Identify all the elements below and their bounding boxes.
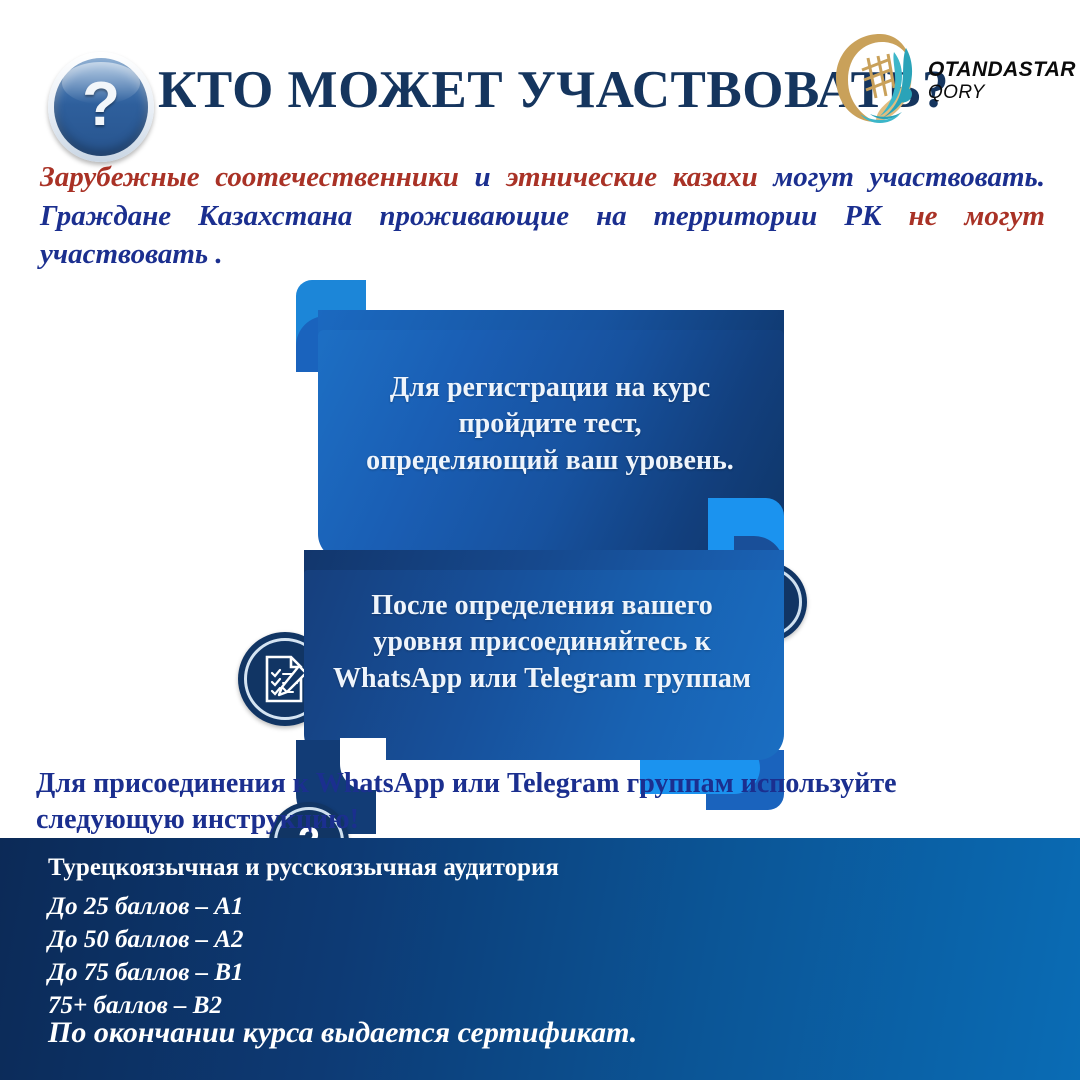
intro-segment-5: не могут [909, 200, 1045, 232]
level-row: До 50 баллов – А2 [48, 923, 244, 956]
step-2-line-3: WhatsApp или Telegram группам [312, 661, 772, 697]
intro-segment-2: и [459, 161, 507, 193]
intro-segment-3: этнические казахи [506, 161, 757, 193]
brand-logo: OTANDASTAR QORY [832, 28, 1072, 140]
score-levels-list: До 25 баллов – А1 До 50 баллов – А2 До 7… [48, 890, 244, 1022]
footer-title: Турецкоязычная и русскоязычная аудитория [48, 854, 559, 882]
step-1-line-2: пройдите тест, [330, 406, 770, 442]
intro-segment-1: Зарубежные соотечественники [40, 161, 459, 193]
instruction-text: Для присоединения к WhatsApp или Telegra… [36, 766, 1046, 838]
logo-name: OTANDASTAR [928, 58, 1076, 82]
certificate-note: По окончании курса выдается сертификат. [48, 1016, 637, 1050]
level-row: До 75 баллов – В1 [48, 956, 244, 989]
intro-segment-6: участвовать . [40, 238, 223, 270]
logo-text-block: OTANDASTAR QORY [928, 58, 1076, 104]
step-1-text: Для регистрации на курс пройдите тест, о… [330, 370, 770, 479]
logo-subtitle: QORY [928, 82, 1076, 104]
header: ? КТО МОЖЕТ УЧАСТВОВАТЬ? OTANDASTAR QORY [0, 0, 1080, 150]
step-1-line-1: Для регистрации на курс [330, 370, 770, 406]
step-2-line-2: уровня присоединяйтесь к [312, 624, 772, 660]
footer-panel: Турецкоязычная и русскоязычная аудитория… [0, 838, 1080, 1080]
step-1-line-3: определяющий ваш уровень. [330, 443, 770, 479]
steps-container: Для регистрации на курс пройдите тест, о… [0, 270, 1080, 770]
question-icon-glyph: ? [48, 52, 154, 162]
question-mark-icon: ? [48, 52, 154, 162]
logo-mark-icon [832, 28, 924, 132]
infographic-page: ? КТО МОЖЕТ УЧАСТВОВАТЬ? OTANDASTAR QORY [0, 0, 1080, 1080]
page-title: КТО МОЖЕТ УЧАСТВОВАТЬ? [158, 60, 949, 120]
intro-paragraph: Зарубежные соотечественники и этнические… [40, 158, 1045, 274]
step-2-text: После определения вашего уровня присоеди… [312, 588, 772, 697]
step-2-line-1: После определения вашего [312, 588, 772, 624]
level-row: До 25 баллов – А1 [48, 890, 244, 923]
